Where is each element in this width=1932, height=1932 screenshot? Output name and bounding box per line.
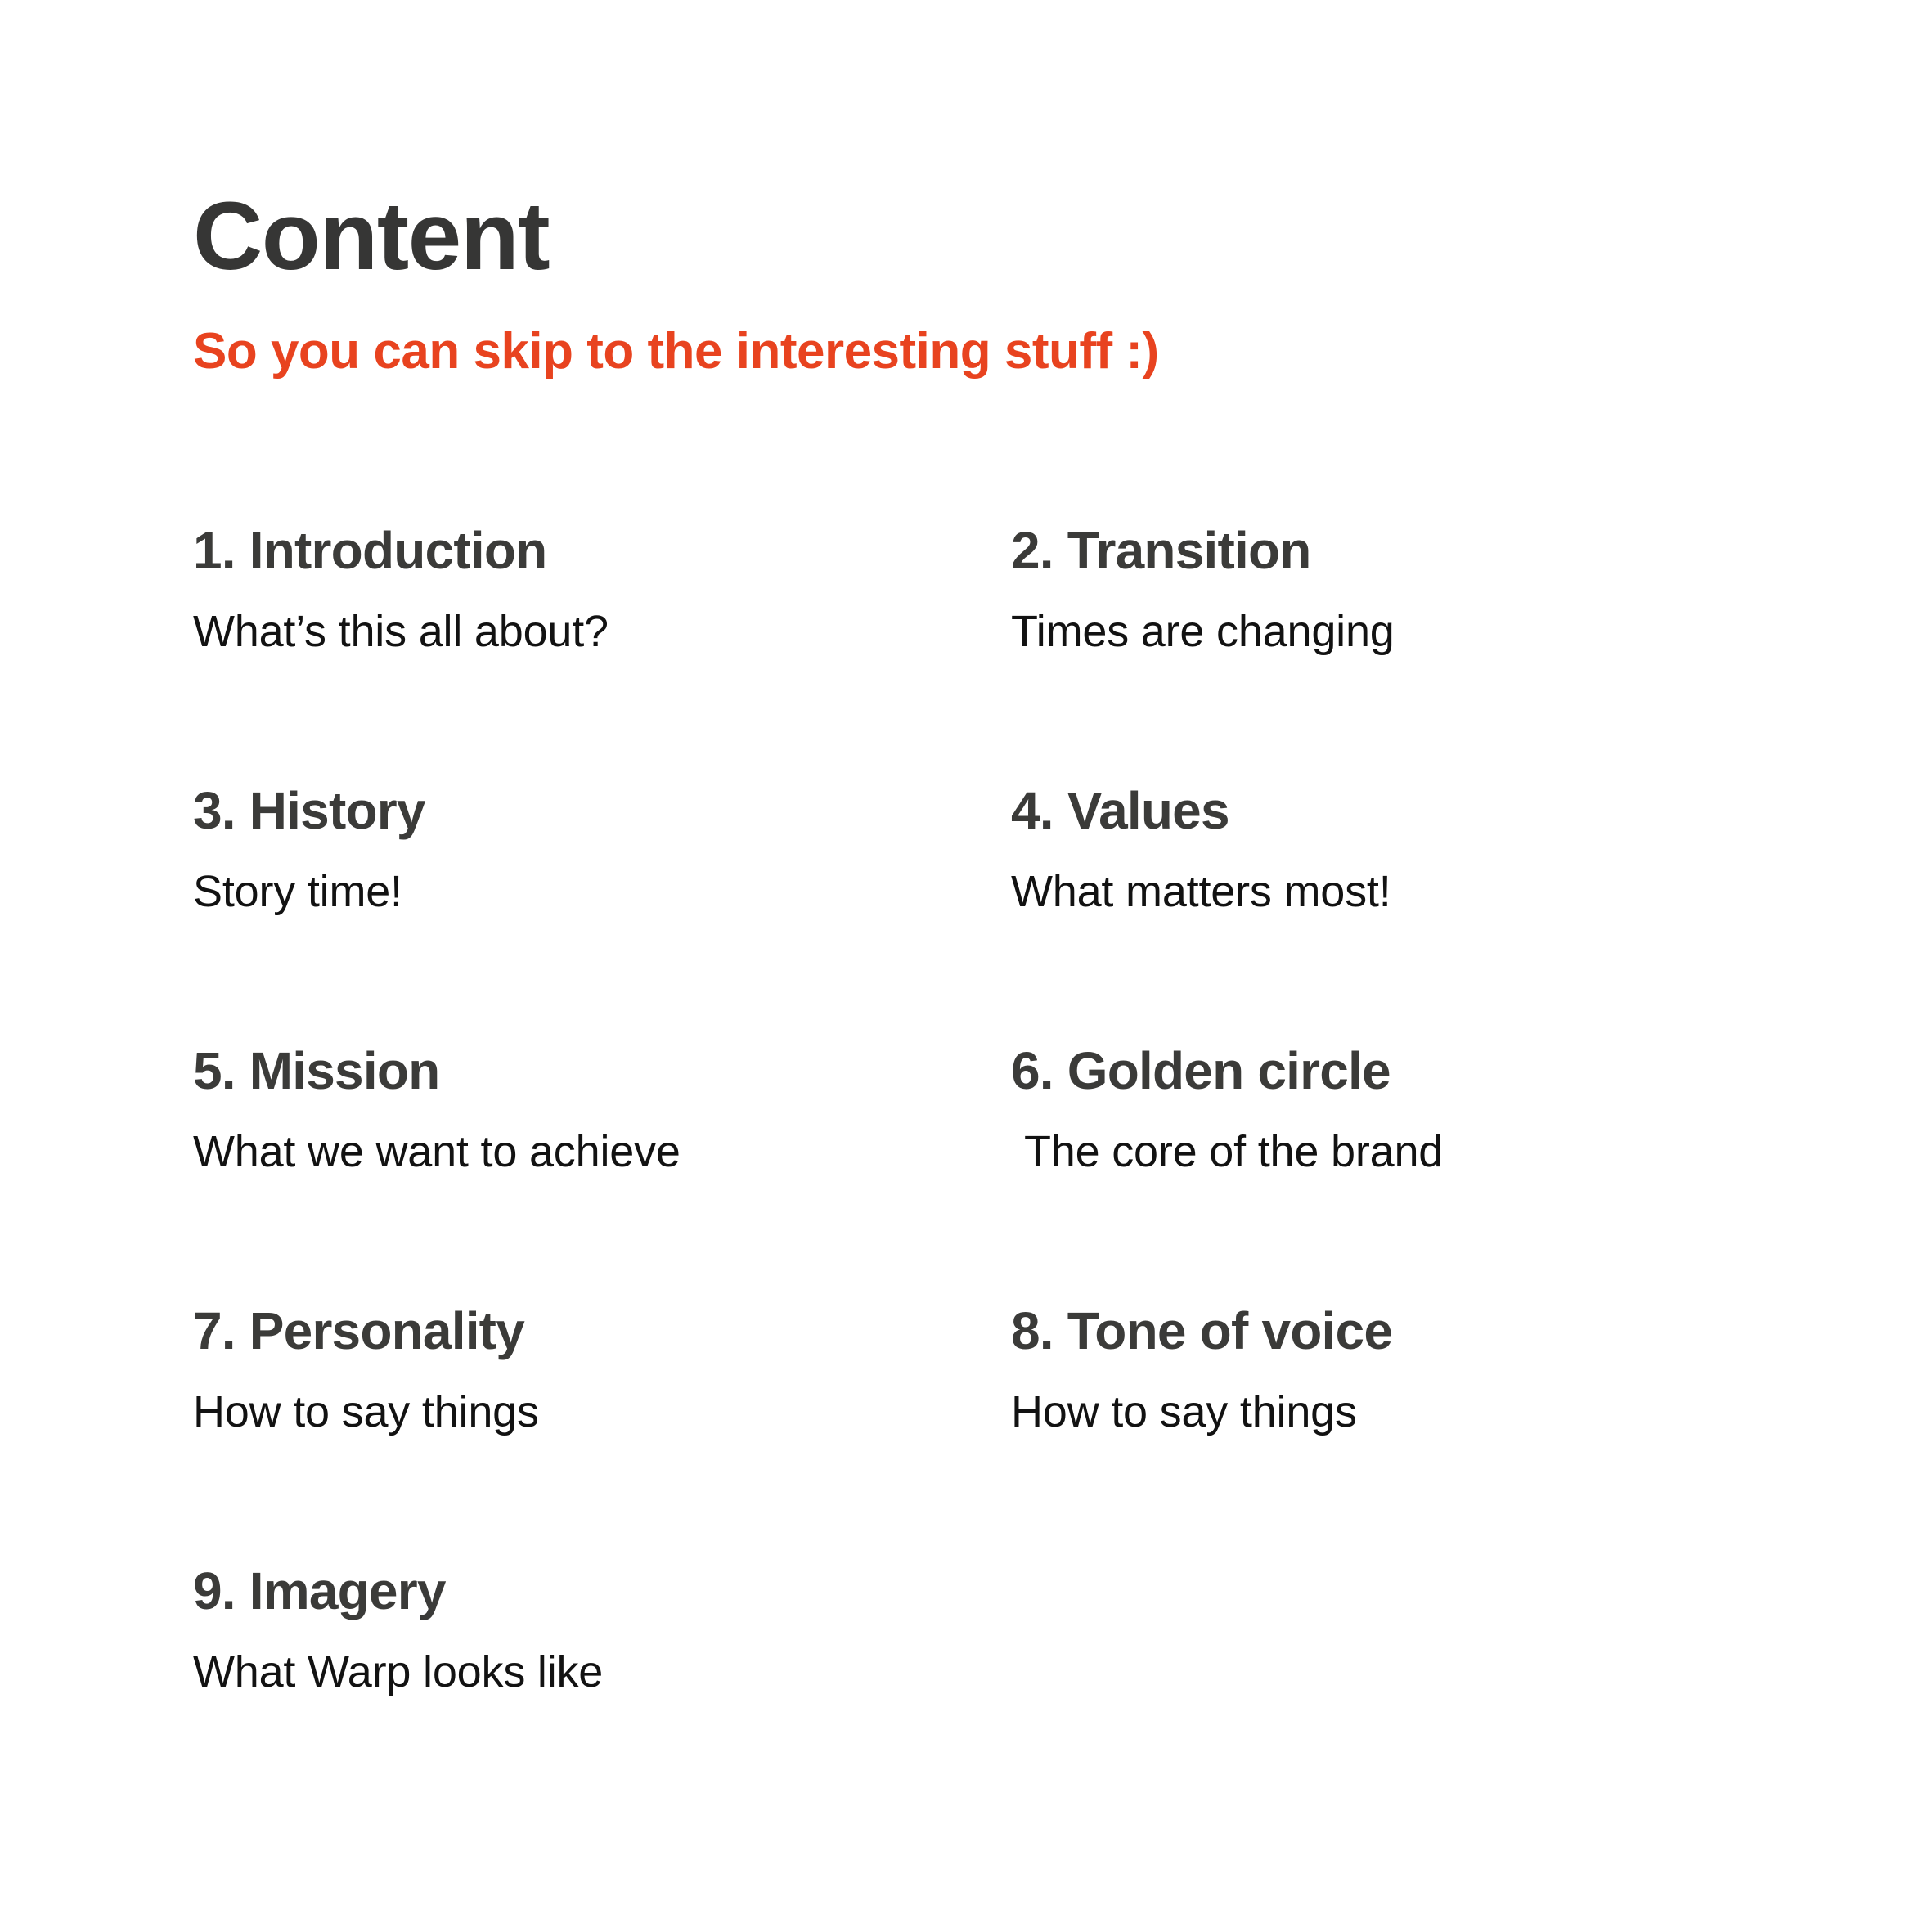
agenda-item-mission[interactable]: 5. Mission What we want to achieve bbox=[193, 1044, 1011, 1304]
agenda-item-heading: 6. Golden circle bbox=[1011, 1044, 1747, 1099]
agenda-item-caption: What we want to achieve bbox=[193, 1099, 1011, 1176]
slide-root: Content So you can skip to the interesti… bbox=[0, 0, 1932, 1932]
agenda-item-caption: What matters most! bbox=[1011, 838, 1747, 916]
agenda-list: 1. Introduction What’s this all about? 2… bbox=[193, 523, 1747, 1824]
agenda-item-heading: 9. Imagery bbox=[193, 1564, 1011, 1619]
agenda-item-introduction[interactable]: 1. Introduction What’s this all about? bbox=[193, 523, 1011, 784]
agenda-item-golden-circle[interactable]: 6. Golden circle The core of the brand bbox=[1011, 1044, 1747, 1304]
agenda-item-caption: What Warp looks like bbox=[193, 1619, 1011, 1696]
agenda-item-heading: 7. Personality bbox=[193, 1304, 1011, 1359]
agenda-item-tone-of-voice[interactable]: 8. Tone of voice How to say things bbox=[1011, 1304, 1747, 1564]
agenda-item-caption: Story time! bbox=[193, 838, 1011, 916]
agenda-item-caption: How to say things bbox=[193, 1359, 1011, 1436]
agenda-item-values[interactable]: 4. Values What matters most! bbox=[1011, 784, 1747, 1044]
agenda-item-transition[interactable]: 2. Transition Times are changing bbox=[1011, 523, 1747, 784]
agenda-item-caption: How to say things bbox=[1011, 1359, 1747, 1436]
agenda-item-heading: 5. Mission bbox=[193, 1044, 1011, 1099]
agenda-item-heading: 1. Introduction bbox=[193, 523, 1011, 578]
page-subtitle: So you can skip to the interesting stuff… bbox=[193, 285, 1747, 380]
agenda-item-history[interactable]: 3. History Story time! bbox=[193, 784, 1011, 1044]
slide-header: Content So you can skip to the interesti… bbox=[193, 188, 1747, 380]
agenda-item-heading: 2. Transition bbox=[1011, 523, 1747, 578]
page-title: Content bbox=[193, 188, 1747, 285]
agenda-item-caption: The core of the brand bbox=[1011, 1099, 1747, 1176]
agenda-item-heading: 4. Values bbox=[1011, 784, 1747, 838]
agenda-item-personality[interactable]: 7. Personality How to say things bbox=[193, 1304, 1011, 1564]
agenda-item-caption: What’s this all about? bbox=[193, 578, 1011, 656]
agenda-item-imagery[interactable]: 9. Imagery What Warp looks like bbox=[193, 1564, 1011, 1824]
agenda-item-heading: 8. Tone of voice bbox=[1011, 1304, 1747, 1359]
agenda-item-heading: 3. History bbox=[193, 784, 1011, 838]
agenda-item-caption: Times are changing bbox=[1011, 578, 1747, 656]
